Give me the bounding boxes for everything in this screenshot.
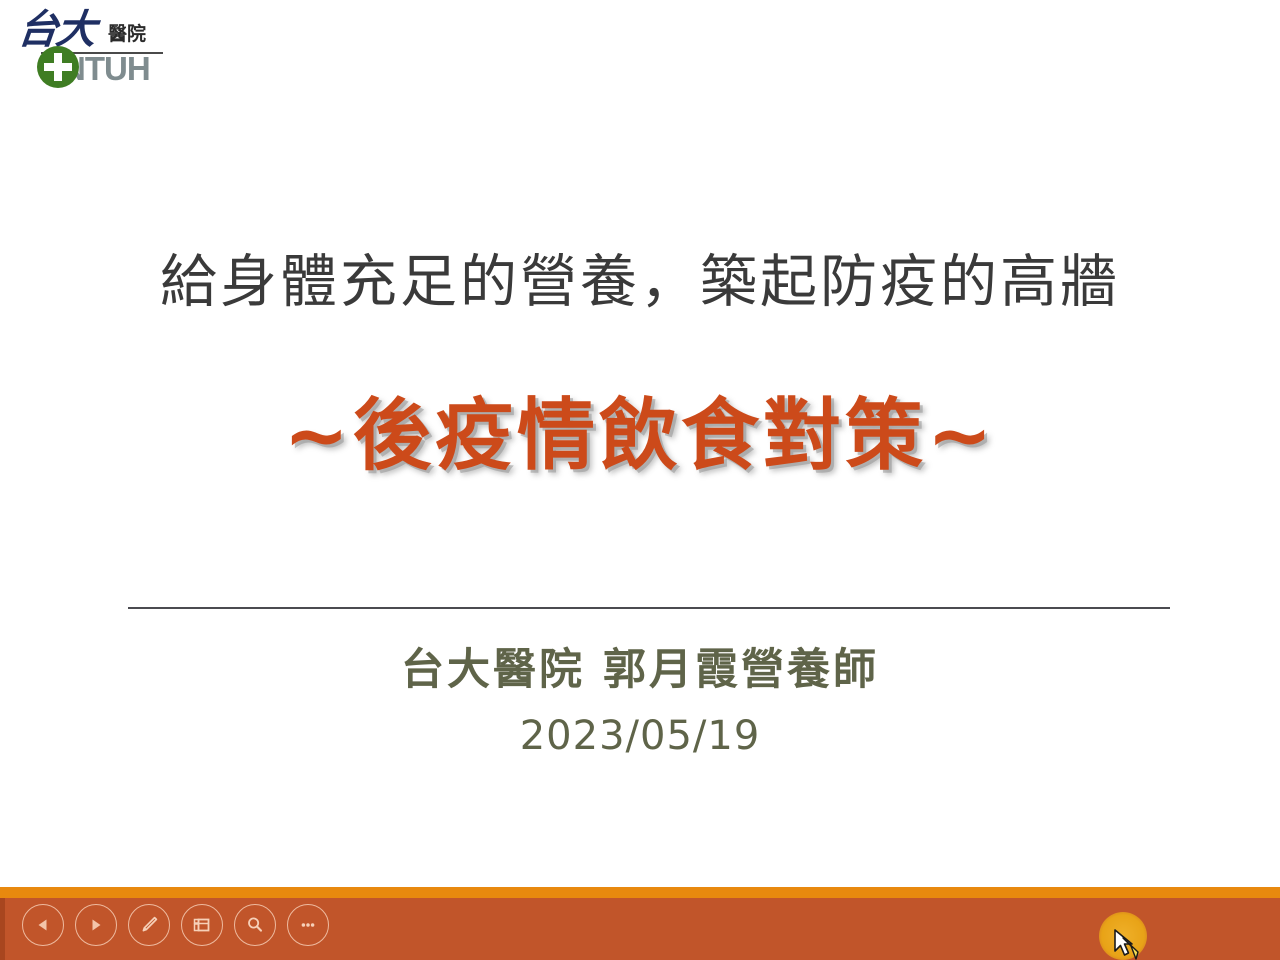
more-options-button[interactable] xyxy=(287,904,329,946)
title-divider xyxy=(128,607,1170,609)
magnifier-icon xyxy=(244,914,266,936)
toolbar-button-group xyxy=(22,904,329,946)
zoom-button[interactable] xyxy=(234,904,276,946)
slide-canvas: 台大 醫院 NTUH 給身體充足的營養，築起防疫的高牆 ~後疫情飲食對策~ 台大… xyxy=(0,0,1280,887)
green-cross-horizontal xyxy=(44,63,72,71)
ellipsis-icon xyxy=(297,914,319,936)
grid-layout-icon xyxy=(191,914,213,936)
presentation-date: 2023/05/19 xyxy=(0,712,1280,760)
pencil-cursor-icon xyxy=(1112,928,1142,960)
logo-hospital-label: 醫院 xyxy=(108,25,146,44)
logo-han-mark: 台大 xyxy=(16,10,96,50)
slide-toolbar xyxy=(0,887,1280,960)
previous-slide-button[interactable] xyxy=(22,904,64,946)
toolbar-left-edge xyxy=(0,898,5,960)
slide-sub-title: ~後疫情飲食對策~ xyxy=(0,388,1280,486)
slide-layout-button[interactable] xyxy=(181,904,223,946)
slide-main-title: 給身體充足的營養，築起防疫的高牆 xyxy=(0,247,1280,318)
toolbar-accent-strip xyxy=(0,887,1280,898)
next-slide-button[interactable] xyxy=(75,904,117,946)
triangle-right-icon xyxy=(87,916,105,934)
presentation-slide-view: 台大 醫院 NTUH 給身體充足的營養，築起防疫的高牆 ~後疫情飲食對策~ 台大… xyxy=(0,0,1280,960)
presenter-name: 台大醫院 郭月霞營養師 xyxy=(0,645,1280,697)
green-cross-icon xyxy=(37,46,79,88)
pen-tool-button[interactable] xyxy=(128,904,170,946)
triangle-left-icon xyxy=(34,916,52,934)
ntuh-logo: 台大 醫院 NTUH xyxy=(14,8,164,90)
pen-icon xyxy=(138,914,160,936)
